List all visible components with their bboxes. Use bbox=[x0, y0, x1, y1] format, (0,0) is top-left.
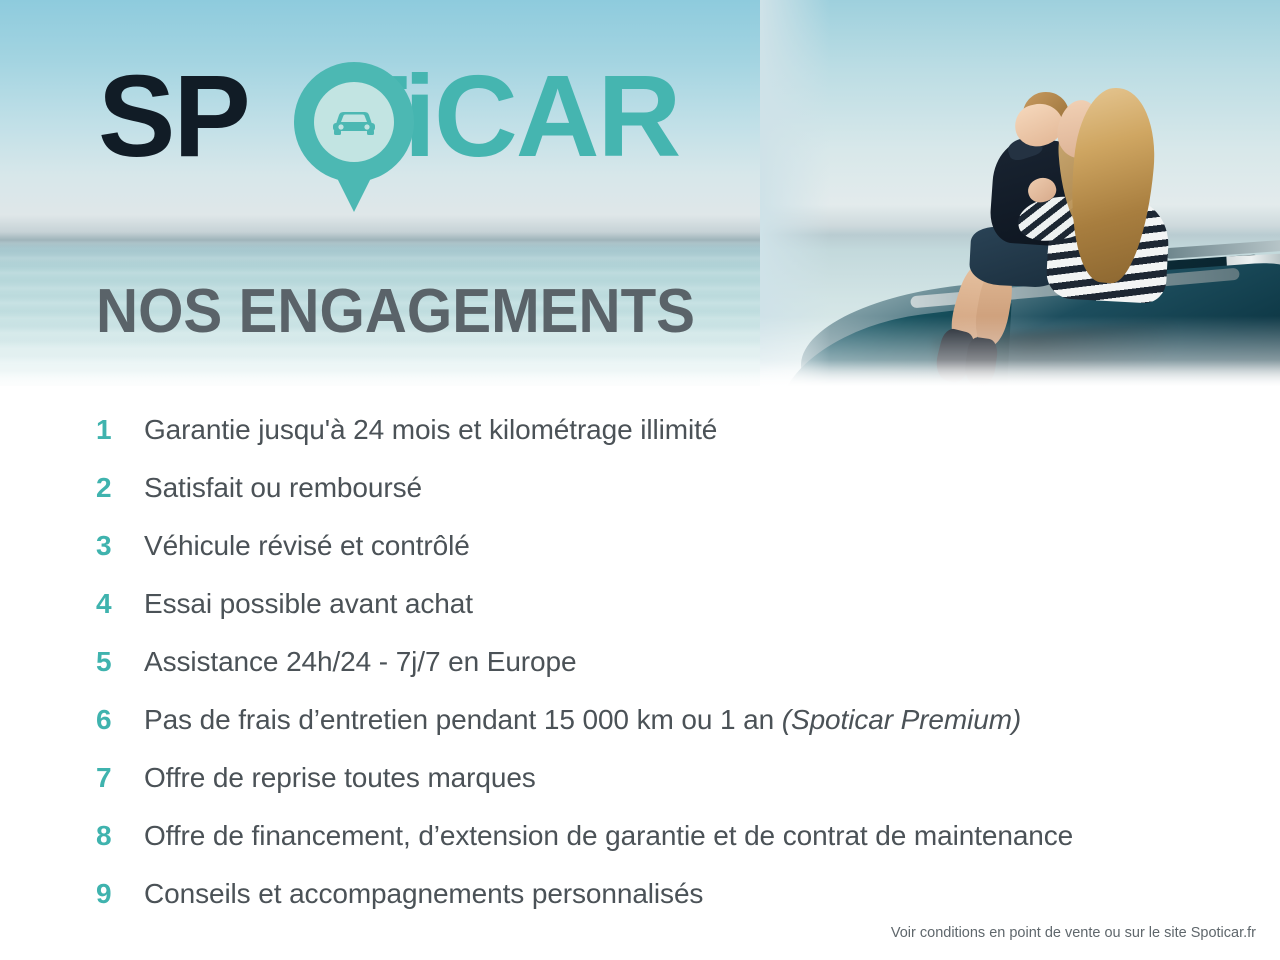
list-item-label: Essai possible avant achat bbox=[144, 588, 473, 619]
page-title: NOS ENGAGEMENTS bbox=[96, 281, 695, 343]
list-item-label: Satisfait ou remboursé bbox=[144, 472, 422, 503]
logo-text-dark: SP bbox=[98, 51, 249, 181]
list-item: 4 Essai possible avant achat bbox=[96, 588, 1226, 646]
list-item-number: 1 bbox=[96, 414, 144, 446]
list-item-text: Essai possible avant achat bbox=[144, 588, 473, 620]
list-item-text: Pas de frais d’entretien pendant 15 000 … bbox=[144, 704, 1021, 736]
list-item-label: Pas de frais d’entretien pendant 15 000 … bbox=[144, 704, 782, 735]
list-item-number: 8 bbox=[96, 820, 144, 852]
list-item-label: Garantie jusqu'à 24 mois et kilométrage … bbox=[144, 414, 717, 445]
list-item-number: 4 bbox=[96, 588, 144, 620]
list-item-text: Véhicule révisé et contrôlé bbox=[144, 530, 470, 562]
list-item-text: Garantie jusqu'à 24 mois et kilométrage … bbox=[144, 414, 717, 446]
list-item-text: Assistance 24h/24 - 7j/7 en Europe bbox=[144, 646, 576, 678]
list-item-number: 6 bbox=[96, 704, 144, 736]
list-item: 1 Garantie jusqu'à 24 mois et kilométrag… bbox=[96, 414, 1226, 472]
list-item-label: Véhicule révisé et contrôlé bbox=[144, 530, 470, 561]
list-item-text: Offre de financement, d’extension de gar… bbox=[144, 820, 1073, 852]
car-glyph-icon bbox=[330, 106, 378, 138]
list-item-text: Satisfait ou remboursé bbox=[144, 472, 422, 504]
list-item-text: Conseils et accompagnements personnalisé… bbox=[144, 878, 703, 910]
list-item-number: 7 bbox=[96, 762, 144, 794]
commitments-list: 1 Garantie jusqu'à 24 mois et kilométrag… bbox=[96, 414, 1226, 936]
list-item: 6 Pas de frais d’entretien pendant 15 00… bbox=[96, 704, 1226, 762]
list-item-number: 5 bbox=[96, 646, 144, 678]
map-pin-car-icon bbox=[294, 62, 414, 214]
hero-banner: SPOTiCAR NOS ENGAGEMENTS bbox=[0, 0, 1280, 386]
list-item-number: 9 bbox=[96, 878, 144, 910]
list-item-label: Offre de reprise toutes marques bbox=[144, 762, 536, 793]
list-item-label: Assistance 24h/24 - 7j/7 en Europe bbox=[144, 646, 576, 677]
list-item: 5 Assistance 24h/24 - 7j/7 en Europe bbox=[96, 646, 1226, 704]
list-item-number: 3 bbox=[96, 530, 144, 562]
list-item-emphasis: (Spoticar Premium) bbox=[782, 704, 1021, 735]
spoticar-commitments-page: SPOTiCAR NOS ENGAGEMENTS 1 bbox=[0, 0, 1280, 960]
list-item: 3 Véhicule révisé et contrôlé bbox=[96, 530, 1226, 588]
list-item: 2 Satisfait ou remboursé bbox=[96, 472, 1226, 530]
list-item: 8 Offre de financement, d’extension de g… bbox=[96, 820, 1226, 878]
list-item-label: Offre de financement, d’extension de gar… bbox=[144, 820, 1073, 851]
legal-disclaimer: Voir conditions en point de vente ou sur… bbox=[891, 925, 1256, 941]
list-item-label: Conseils et accompagnements personnalisé… bbox=[144, 878, 703, 909]
spoticar-logo: SPOTiCAR bbox=[98, 58, 758, 218]
list-item-number: 2 bbox=[96, 472, 144, 504]
list-item-text: Offre de reprise toutes marques bbox=[144, 762, 536, 794]
list-item: 7 Offre de reprise toutes marques bbox=[96, 762, 1226, 820]
